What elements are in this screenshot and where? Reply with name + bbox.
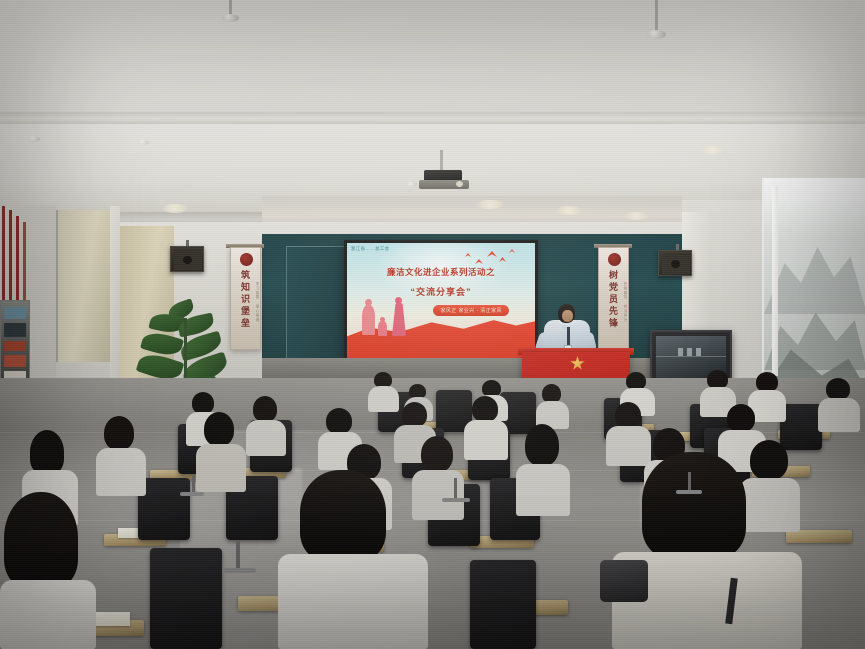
handbag (600, 560, 648, 602)
sprinkler-stem (655, 0, 658, 32)
chair-back (150, 548, 222, 649)
stage-door[interactable] (286, 246, 348, 374)
chair-foot (222, 568, 256, 573)
sprinkler-head (407, 182, 417, 187)
chair-foot (442, 498, 470, 502)
chair-foot (180, 492, 204, 496)
bird-icon (509, 249, 515, 253)
sprinkler-head (647, 30, 666, 39)
slide-pill-text: 家风正 家业兴 · 清正家风 (433, 305, 508, 316)
left-door[interactable] (56, 210, 114, 362)
presenter-face (562, 310, 573, 322)
sprinkler-head (28, 136, 40, 142)
slide-title-line1: 廉洁文化进企业系列活动之 (347, 266, 535, 279)
slide-footer-date: 2023年6月 (347, 348, 535, 354)
recessed-downlight (556, 206, 582, 215)
projector-lens (456, 181, 463, 187)
projector-mount-pole (440, 150, 443, 172)
recessed-downlight (476, 200, 504, 209)
sprinkler-head (222, 14, 239, 22)
recessed-downlight (624, 212, 648, 220)
chair-post (688, 472, 691, 492)
wall-speaker-left (170, 246, 204, 272)
ceiling-upper-plane (0, 0, 865, 118)
recessed-downlight (162, 204, 188, 213)
chair-foot (676, 490, 702, 494)
chair-post (236, 540, 240, 570)
projection-screen-slide: 浙江省……总工会 廉洁文化进企业系列活动之 “交流分享会” 家风正 家业兴 · … (347, 243, 535, 360)
party-emblem-seal (608, 253, 621, 266)
projection-screen: 浙江省……总工会 廉洁文化进企业系列活动之 “交流分享会” 家风正 家业兴 · … (344, 240, 538, 363)
presenter-lanyard (567, 327, 570, 347)
banner-right-side-text: 先锋模范 担当作为 (621, 282, 628, 340)
recessed-downlight (700, 146, 724, 154)
slide-logo-text: 浙江省……总工会 (351, 246, 389, 252)
chair-post (454, 478, 457, 500)
wall-speaker-right (658, 250, 692, 276)
party-member-vanguard-banner: 树党员先锋 先锋模范 担当作为 (598, 247, 629, 350)
conference-room-photo: 筑知识堡垒 学习强国 凝心铸魂 树党员先锋 先锋模范 担当作为 (0, 0, 865, 649)
banner-left-side-text: 学习强国 凝心铸魂 (253, 282, 260, 340)
party-emblem-seal (240, 253, 253, 266)
chair-back (470, 560, 536, 649)
banner-left-main-text: 筑知识堡垒 (239, 270, 252, 344)
slide-title-line2: “交流分享会” (347, 285, 535, 298)
chair-back (780, 404, 822, 450)
banner-right-main-text: 树党员先锋 (607, 270, 620, 344)
sprinkler-head (138, 140, 149, 145)
mural-pillar-highlight (772, 186, 778, 376)
